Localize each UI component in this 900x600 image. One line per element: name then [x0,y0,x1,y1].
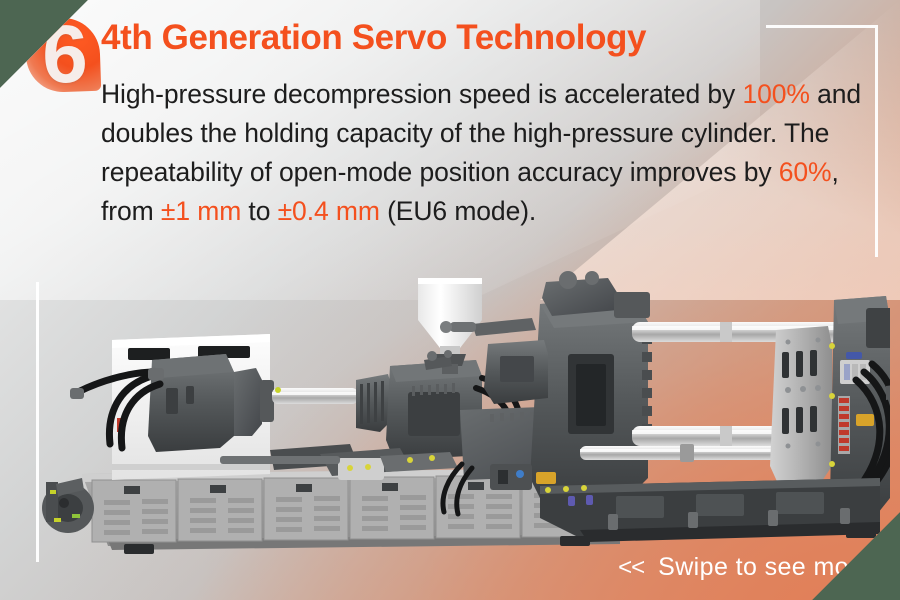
step-number-badge: 6 [18,12,110,104]
body-text: to [241,196,277,226]
body-highlight: 100% [742,79,809,109]
body-text: (EU6 mode). [380,196,536,226]
body-highlight: 60% [779,157,832,187]
swipe-hint-label: Swipe to see more [658,553,872,582]
body-paragraph: High-pressure decompression speed is acc… [101,75,861,231]
chevron-left-icon: << [618,554,644,582]
body-text: High-pressure decompression speed is acc… [101,79,742,109]
injection-molding-machine-image [20,268,890,568]
page-title: 4th Generation Servo Technology [101,18,646,58]
swipe-hint[interactable]: << Swipe to see more [618,553,872,582]
badge-number: 6 [18,6,110,104]
body-highlight: ±1 mm [161,196,241,226]
body-highlight: ±0.4 mm [278,196,380,226]
feature-card: 6 4th Generation Servo Technology High-p… [0,0,900,600]
